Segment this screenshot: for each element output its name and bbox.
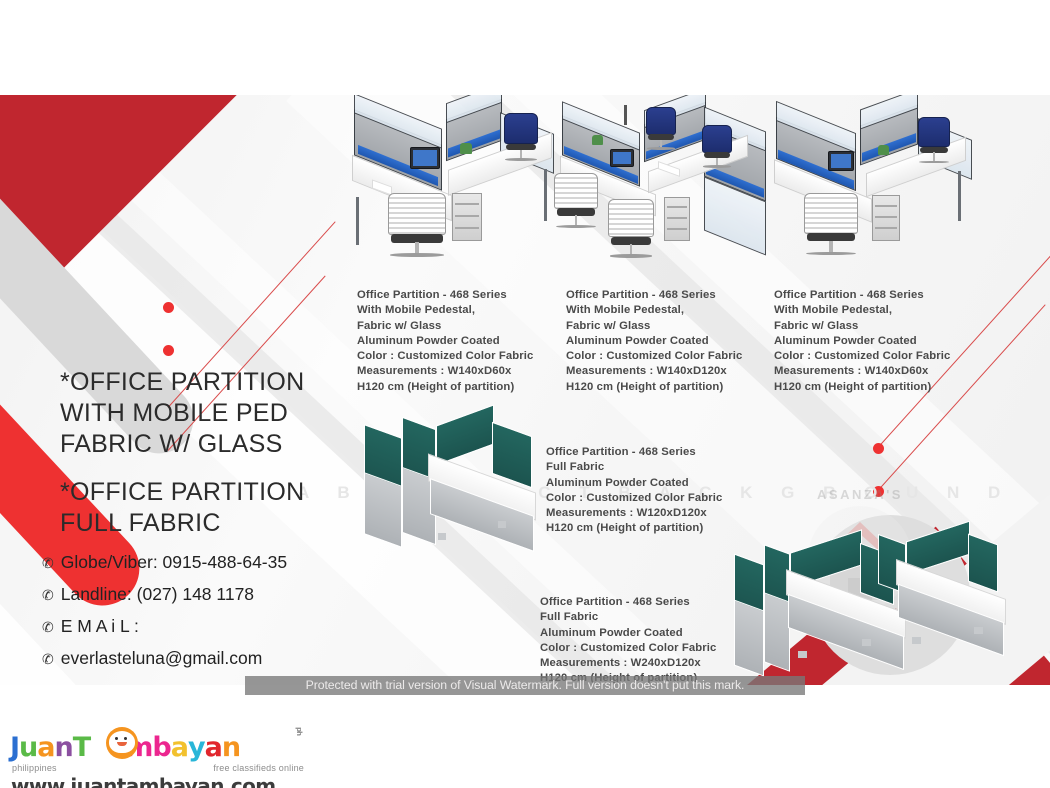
logo-tagline: philippines free classifieds online — [12, 763, 304, 773]
product-image-booth-green-double — [730, 535, 1000, 685]
phone-icon: ✆ — [42, 548, 54, 579]
contact-row-globe-viber[interactable]: ✆ Globe/Viber: 0915-488-64-35 — [42, 547, 287, 579]
email-address-icon: ✆ — [42, 644, 54, 675]
spec-top-left: Office Partition - 468 Series With Mobil… — [357, 288, 562, 395]
logo-letter-4: T — [73, 733, 90, 763]
contact-landline: Landline: (027) 148 1178 — [61, 579, 254, 610]
product-image-cubicle-right — [768, 107, 980, 269]
contact-row-email-label: ✆ E M A i L : — [42, 611, 287, 643]
site-url[interactable]: www.juantambayan.com — [11, 774, 275, 788]
logo-letter-10: n — [222, 733, 240, 763]
logo-letter-2: a — [37, 733, 54, 763]
spec-middle: Office Partition - 468 Series Full Fabri… — [546, 445, 771, 537]
headline-secondary: *OFFICE PARTITION FULL FABRIC — [60, 477, 304, 539]
spec-top-center: Office Partition - 468 Series With Mobil… — [566, 288, 771, 395]
advertisement-page: A B S T R A C T B A C K G R O U N D ASAN… — [0, 0, 1050, 788]
logo-ph-mark: ph — [284, 727, 314, 735]
trial-version-watermark: Protected with trial version of Visual W… — [245, 676, 805, 695]
ad-banner: A B S T R A C T B A C K G R O U N D ASAN… — [0, 95, 1050, 685]
logo-letter-1: u — [19, 733, 37, 763]
product-image-cubicle-left — [348, 105, 558, 265]
accent-dot-left-1 — [163, 302, 174, 313]
logo-letter-9: a — [205, 733, 222, 763]
telephone-icon: ✆ — [42, 580, 54, 611]
spec-bottom: Office Partition - 468 Series Full Fabri… — [540, 595, 765, 685]
logo-letter-7: a — [171, 733, 188, 763]
envelope-icon: ✆ — [42, 612, 54, 643]
office-chair — [554, 173, 598, 235]
asanza-watermark-title: ASANZA'S — [785, 487, 935, 502]
accent-dot-right-1 — [873, 443, 884, 454]
office-chair-navy — [918, 117, 950, 169]
logo-letter-8: y — [188, 733, 205, 763]
spec-top-right: Office Partition - 468 Series With Mobil… — [774, 288, 979, 395]
office-chair-navy — [504, 113, 538, 167]
logo-tagline-left: philippines — [12, 763, 57, 773]
product-image-cubicle-center — [552, 103, 782, 275]
contact-email-address: everlasteluna@gmail.com — [61, 643, 263, 674]
contact-globe-viber: Globe/Viber: 0915-488-64-35 — [61, 547, 287, 578]
contact-block: ✆ Globe/Viber: 0915-488-64-35 ✆ Landline… — [42, 547, 287, 675]
office-chair — [608, 199, 654, 265]
logo-tagline-right: free classifieds online — [213, 763, 304, 773]
accent-dot-left-2 — [163, 345, 174, 356]
logo-letter-6: b — [152, 733, 170, 763]
contact-row-landline[interactable]: ✆ Landline: (027) 148 1178 — [42, 579, 287, 611]
office-chair-navy — [702, 125, 732, 173]
office-chair-navy — [646, 107, 676, 155]
contact-row-email-address[interactable]: ✆ everlasteluna@gmail.com — [42, 643, 287, 675]
logo-letter-0: J — [10, 733, 19, 763]
office-chair — [804, 193, 858, 263]
headline-primary: *OFFICE PARTITION WITH MOBILE PED FABRIC… — [60, 367, 304, 460]
logo-letter-3: n — [55, 733, 73, 763]
product-image-booth-green — [358, 413, 538, 553]
office-chair — [388, 193, 446, 265]
mascot-face-icon — [106, 727, 138, 759]
site-footer[interactable]: JuanToombayan ph philippines free classi… — [10, 733, 310, 785]
contact-email-label: E M A i L : — [61, 611, 139, 642]
juantambayan-logo-wordmark[interactable]: JuanToombayan ph — [10, 733, 310, 763]
